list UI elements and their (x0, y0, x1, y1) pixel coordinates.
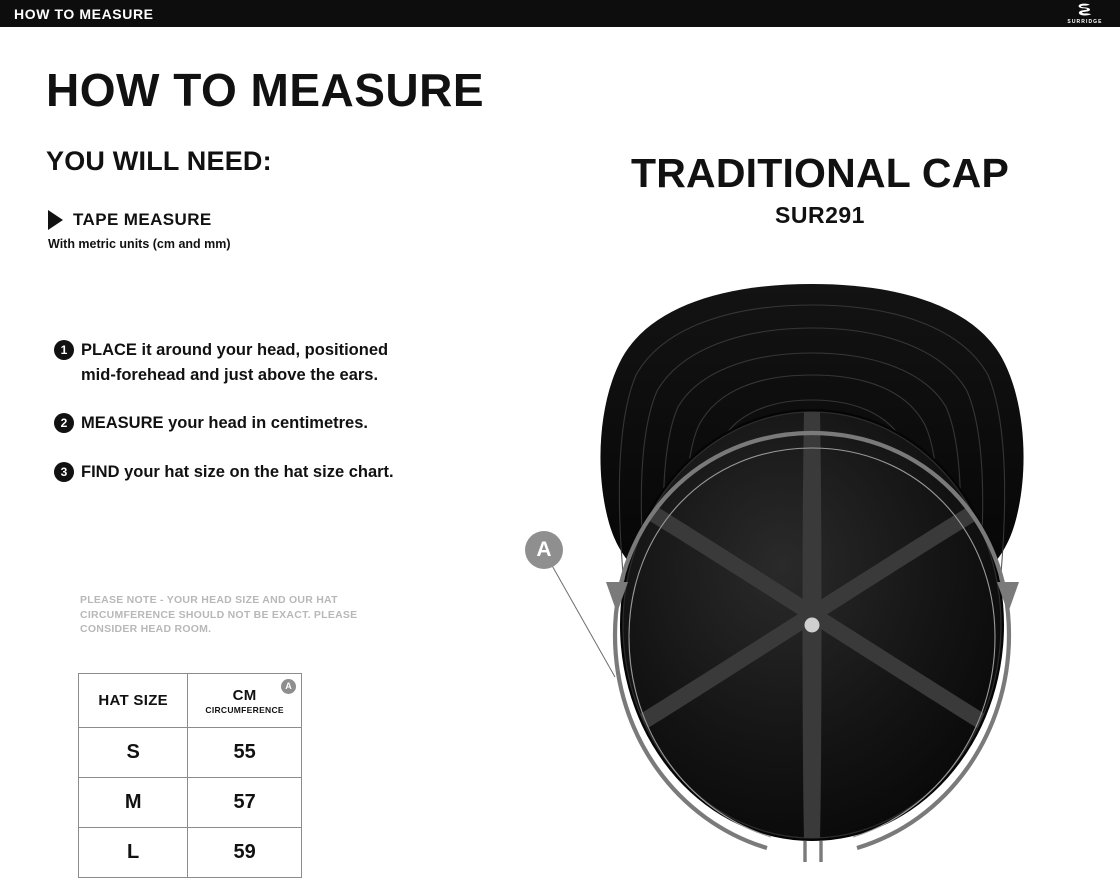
table-header-cm: CM CIRCUMFERENCE A (188, 674, 302, 728)
you-will-need-heading: YOU WILL NEED: (46, 146, 272, 177)
crown-centre-button (805, 618, 820, 633)
table-header-hat-size-label: HAT SIZE (98, 692, 168, 709)
cap-top-view-diagram (505, 265, 1120, 883)
disclaimer-note: PLEASE NOTE - YOUR HEAD SIZE AND OUR HAT… (80, 593, 410, 637)
step-number-badge: 2 (54, 413, 74, 433)
header-title: HOW TO MEASURE (14, 6, 154, 22)
surridge-s-icon (1077, 3, 1093, 18)
list-item: 1 PLACE it around your head, positioned … (54, 338, 414, 387)
triangle-bullet-icon (48, 210, 63, 230)
list-item: 3 FIND your hat size on the hat size cha… (54, 460, 414, 485)
product-title: TRADITIONAL CAP (560, 150, 1080, 197)
hat-size-table: HAT SIZE CM CIRCUMFERENCE A S 55 M 57 L … (78, 673, 302, 878)
tool-item-tape-measure: TAPE MEASURE (48, 210, 212, 230)
callout-leader-line (550, 562, 615, 677)
steps-list: 1 PLACE it around your head, positioned … (54, 338, 414, 508)
cap-crown (620, 409, 1004, 841)
table-row: M 57 (79, 778, 302, 828)
top-header-bar: HOW TO MEASURE SURRIDGE (0, 0, 1120, 27)
table-header-hat-size: HAT SIZE (79, 674, 188, 728)
table-row: L 59 (79, 828, 302, 878)
cell-cm: 55 (188, 728, 302, 778)
callout-badge-a: A (525, 531, 563, 569)
cell-cm: 59 (188, 828, 302, 878)
step-text: FIND your hat size on the hat size chart… (81, 460, 394, 485)
cap-illustration-svg (505, 265, 1120, 883)
cell-hat-size: S (79, 728, 188, 778)
measurement-a-badge: A (281, 679, 296, 694)
table-row: S 55 (79, 728, 302, 778)
cell-cm: 57 (188, 778, 302, 828)
cell-hat-size: L (79, 828, 188, 878)
step-number-badge: 3 (54, 462, 74, 482)
cell-hat-size: M (79, 778, 188, 828)
page-title: HOW TO MEASURE (46, 63, 484, 117)
step-number-badge: 1 (54, 340, 74, 360)
table-header-row: HAT SIZE CM CIRCUMFERENCE A (79, 674, 302, 728)
product-code: SUR291 (560, 202, 1080, 229)
brand-wordmark: SURRIDGE (1067, 19, 1102, 25)
list-item: 2 MEASURE your head in centimetres. (54, 411, 414, 436)
tool-name: TAPE MEASURE (73, 210, 212, 230)
step-text: PLACE it around your head, positioned mi… (81, 338, 414, 387)
table-header-cm-sublabel: CIRCUMFERENCE (188, 705, 301, 715)
step-text: MEASURE your head in centimetres. (81, 411, 368, 436)
surridge-logo: SURRIDGE (1062, 1, 1108, 26)
ring-end-caps (805, 841, 821, 862)
how-to-measure-page: HOW TO MEASURE SURRIDGE HOW TO MEASURE Y… (0, 0, 1120, 883)
tool-subtitle: With metric units (cm and mm) (48, 237, 231, 251)
